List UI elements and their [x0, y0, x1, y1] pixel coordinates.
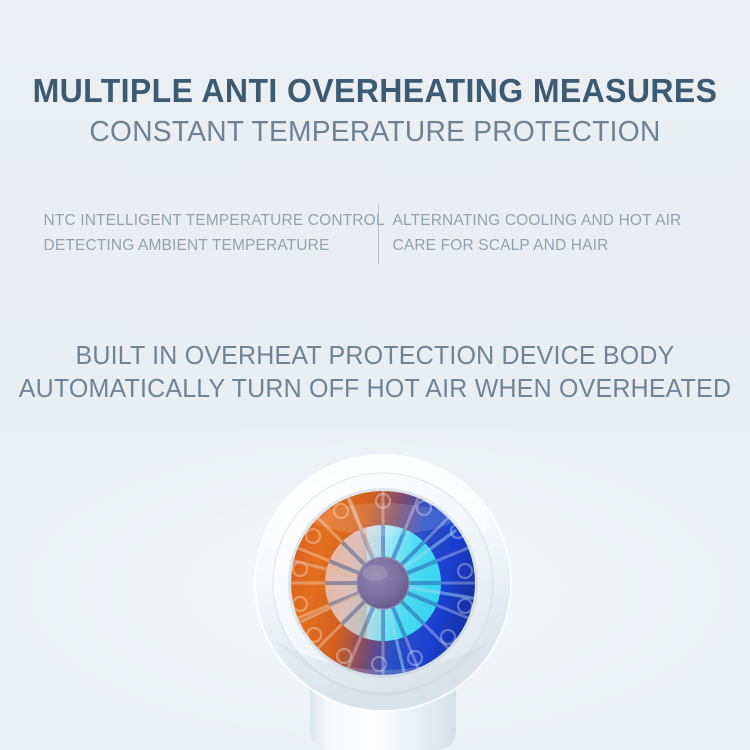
- feature-right-line-1: ALTERNATING COOLING AND HOT AIR: [393, 208, 731, 233]
- fan-hub-highlight: [362, 565, 388, 581]
- page-subtitle: CONSTANT TEMPERATURE PROTECTION: [11, 115, 739, 150]
- feature-right-line-2: CARE FOR SCALP AND HAIR: [393, 233, 731, 258]
- headline-block: MULTIPLE ANTI OVERHEATING MEASURES CONST…: [0, 72, 750, 150]
- page-title: MULTIPLE ANTI OVERHEATING MEASURES: [11, 72, 739, 111]
- product-feature-banner: MULTIPLE ANTI OVERHEATING MEASURES CONST…: [0, 0, 750, 750]
- hair-dryer-nozzle-illustration: [0, 430, 750, 750]
- feature-columns: NTC INTELLIGENT TEMPERATURE CONTROL DETE…: [0, 208, 750, 258]
- callout-line-1: BUILT IN OVERHEAT PROTECTION DEVICE BODY: [8, 340, 743, 373]
- callout-line-2: AUTOMATICALLY TURN OFF HOT AIR WHEN OVER…: [8, 373, 743, 406]
- feature-left-line-1: NTC INTELLIGENT TEMPERATURE CONTROL: [44, 208, 364, 233]
- callout-block: BUILT IN OVERHEAT PROTECTION DEVICE BODY…: [8, 340, 743, 405]
- feature-column-right: ALTERNATING COOLING AND HOT AIR CARE FOR…: [379, 208, 731, 258]
- product-image: [0, 430, 750, 750]
- feature-left-line-2: DETECTING AMBIENT TEMPERATURE: [44, 233, 364, 258]
- feature-column-left: NTC INTELLIGENT TEMPERATURE CONTROL DETE…: [20, 208, 378, 258]
